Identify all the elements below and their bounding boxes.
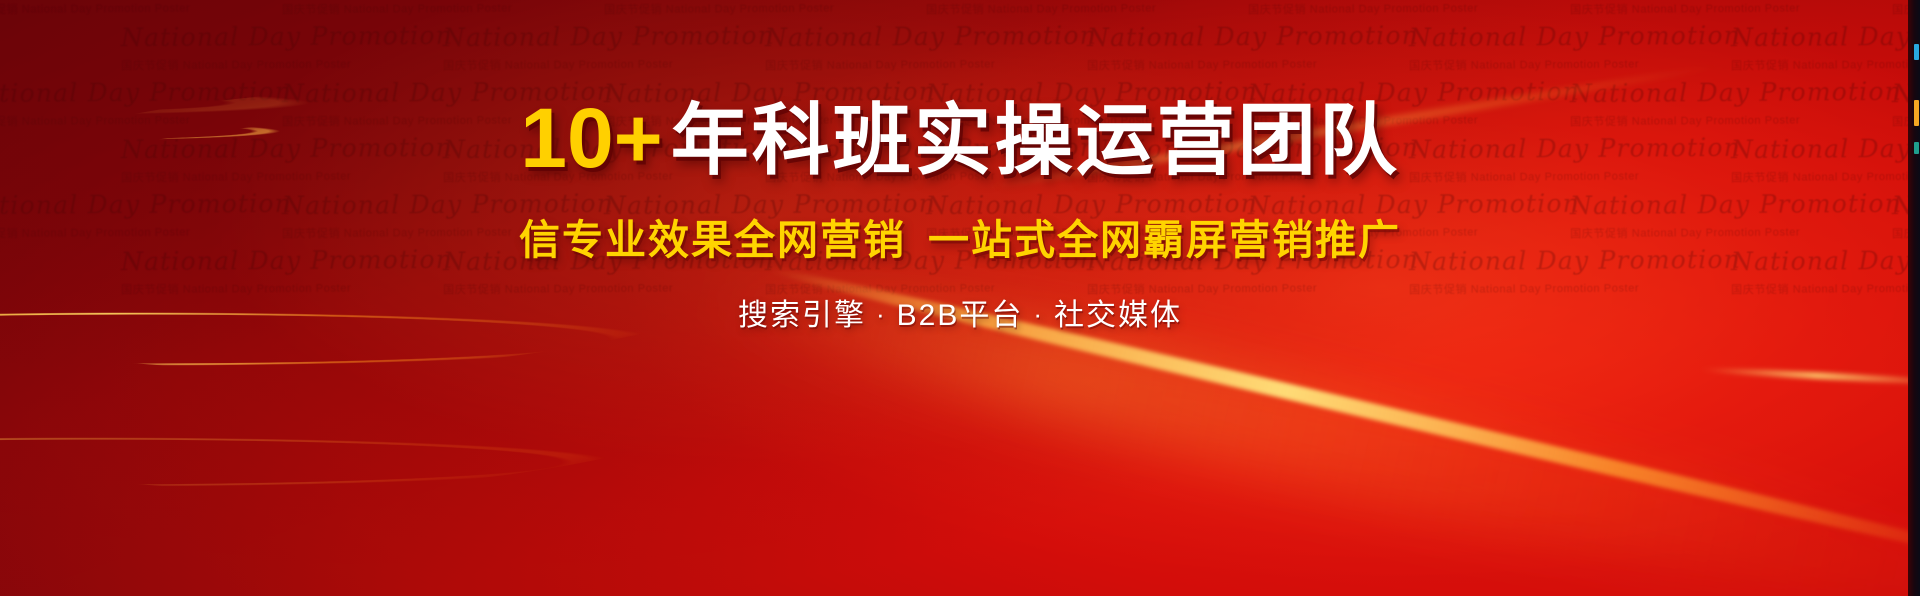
headline-text: 年科班实操运营团队 <box>671 96 1400 184</box>
banner-content: 10+年科班实操运营团队 信专业效果全网营销一站式全网霸屏营销推广 搜索引擎·B… <box>0 0 1920 334</box>
orange-marker-icon <box>1914 100 1919 126</box>
tagline-separator-two: · <box>1023 299 1054 330</box>
tagline-item-search-engine: 搜索引擎 <box>738 299 866 332</box>
teal-marker-icon <box>1914 142 1919 154</box>
promo-banner: National Day Promotion国庆节促销 National Day… <box>0 0 1920 596</box>
subline-part-two: 一站式全网霸屏营销推广 <box>928 217 1401 263</box>
subline: 信专业效果全网营销一站式全网霸屏营销推广 <box>0 206 1920 266</box>
headline-number: 10+ <box>520 91 663 185</box>
headline: 10+年科班实操运营团队 <box>0 96 1920 180</box>
tagline-separator-one: · <box>866 299 897 330</box>
tagline-item-b2b-platform: B2B平台 <box>897 299 1024 332</box>
light-ray-right-highlight <box>1700 366 1920 387</box>
blue-marker-icon <box>1914 44 1919 60</box>
right-edge-strip <box>1908 0 1920 596</box>
subline-part-one: 信专业效果全网营销 <box>519 217 906 263</box>
tagline-item-social-media: 社交媒体 <box>1054 299 1182 332</box>
tagline: 搜索引擎·B2B平台·社交媒体 <box>0 290 1920 334</box>
